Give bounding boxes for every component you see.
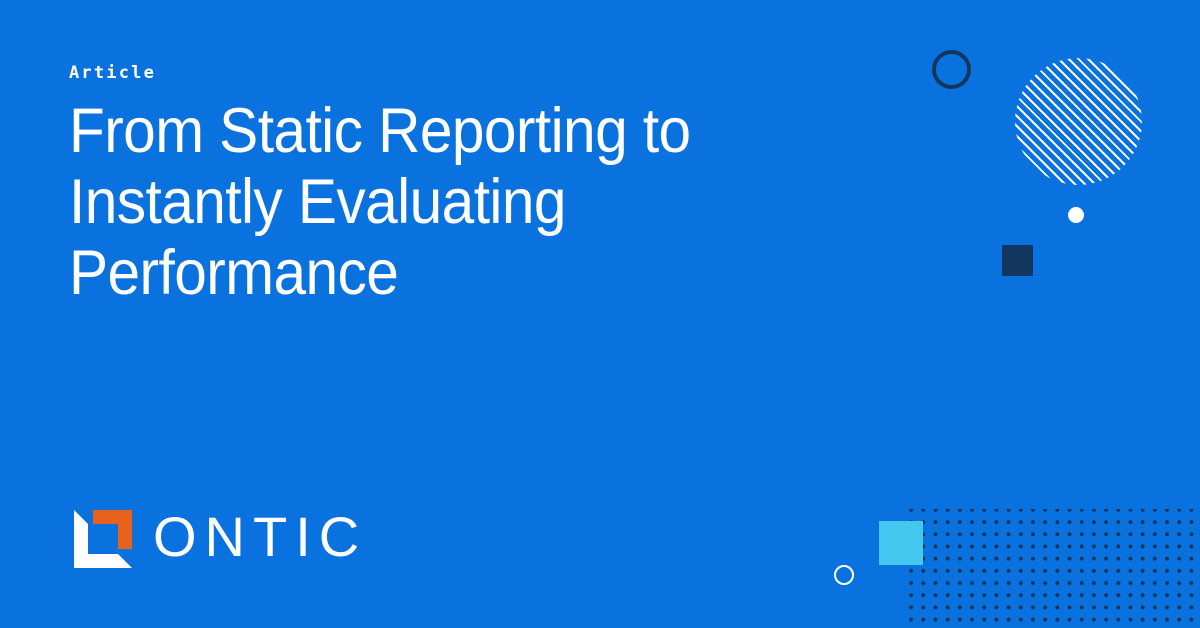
ontic-logo-mark-icon [74, 510, 132, 568]
page-title: From Static Reporting to Instantly Evalu… [69, 96, 813, 309]
social-card: Article From Static Reporting to Instant… [0, 0, 1200, 628]
ontic-logo: ONTIC [74, 508, 367, 570]
eyebrow-label: Article [69, 62, 156, 84]
navy-ring-icon [932, 50, 971, 89]
white-ring-icon [834, 565, 854, 585]
ontic-wordmark: ONTIC [153, 508, 367, 566]
white-dot-icon [1068, 207, 1084, 223]
cyan-square-icon [879, 521, 923, 565]
navy-square-icon [1002, 245, 1033, 276]
striped-circle-icon [1015, 58, 1142, 185]
navy-dot-grid-icon [902, 509, 1200, 628]
